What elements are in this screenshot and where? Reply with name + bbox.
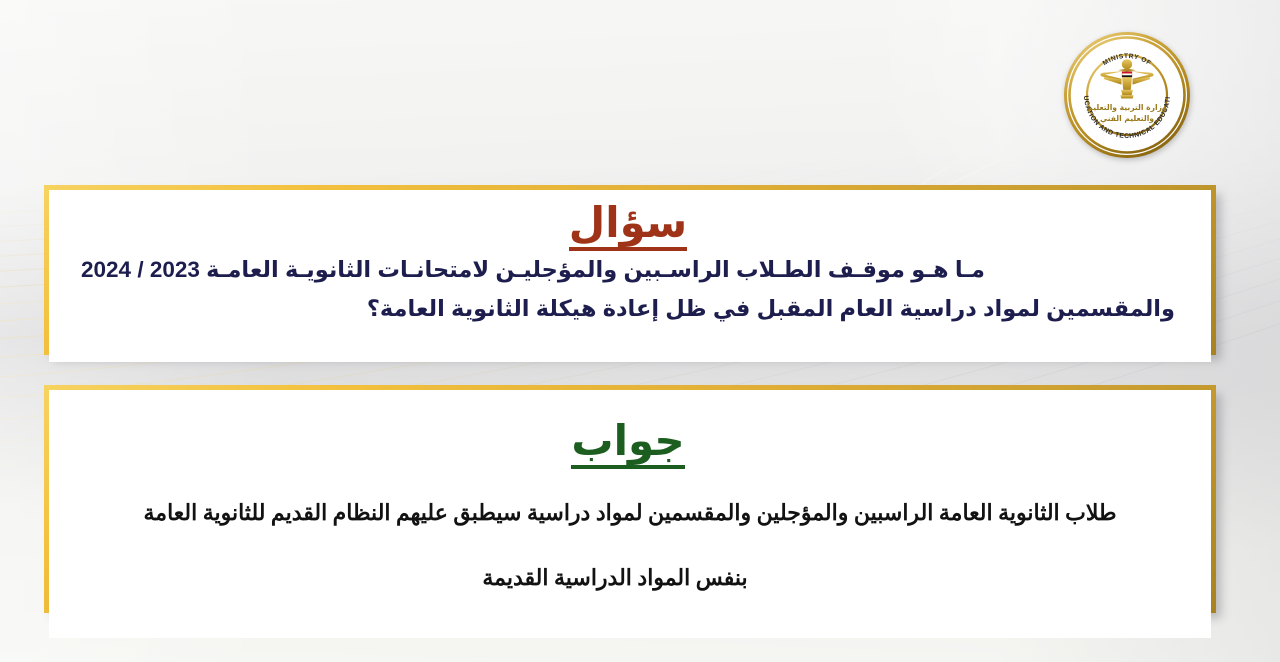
question-heading-text: سؤال bbox=[569, 202, 687, 251]
answer-line-1: طلاب الثانوية العامة الراسبين والمؤجلين … bbox=[75, 495, 1185, 530]
question-heading: سؤال bbox=[75, 202, 1185, 251]
question-line-1: مـا هـو موقـف الطـلاب الراسـبين والمؤجلي… bbox=[75, 253, 1185, 288]
answer-heading: جواب bbox=[75, 420, 1185, 469]
slide-canvas: MINISTRY OF EDUCATION AND TECHNICAL EDUC… bbox=[0, 0, 1280, 662]
answer-heading-text: جواب bbox=[571, 420, 684, 469]
ministry-logo-icon: MINISTRY OF EDUCATION AND TECHNICAL EDUC… bbox=[1062, 30, 1192, 160]
svg-text:وزارة التربية والتعليم: وزارة التربية والتعليم bbox=[1087, 103, 1167, 112]
question-panel: سؤال مـا هـو موقـف الطـلاب الراسـبين وال… bbox=[44, 185, 1216, 355]
question-panel-inner: سؤال مـا هـو موقـف الطـلاب الراسـبين وال… bbox=[49, 202, 1211, 362]
answer-panel-inner: جواب طلاب الثانوية العامة الراسبين والمؤ… bbox=[49, 420, 1211, 638]
svg-text:والتعليم الفني: والتعليم الفني bbox=[1100, 114, 1154, 123]
answer-line-2: بنفس المواد الدراسية القديمة bbox=[75, 560, 1185, 595]
answer-panel: جواب طلاب الثانوية العامة الراسبين والمؤ… bbox=[44, 385, 1216, 613]
question-line-2: والمقسمين لمواد دراسية العام المقبل في ظ… bbox=[75, 292, 1185, 327]
